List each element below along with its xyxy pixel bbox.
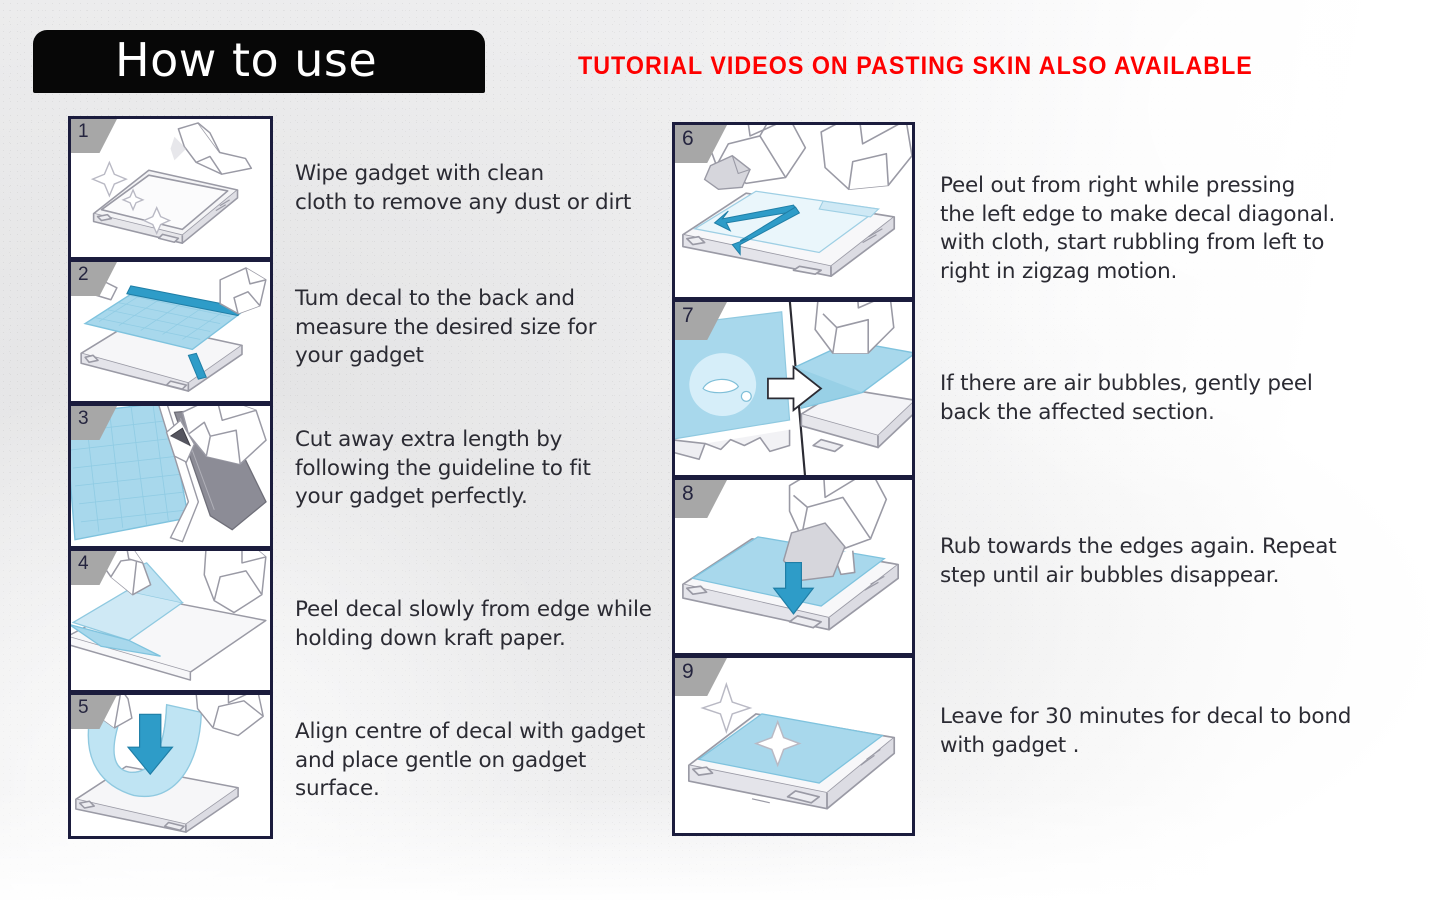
step-panel-2: 2 [68,260,273,404]
steps-column-right: 6 [672,122,915,836]
tutorial-banner: TUTORIAL VIDEOS ON PASTING SKIN ALSO AVA… [578,52,1333,81]
step-number-3: 3 [78,408,89,430]
step-panel-6: 6 [672,122,915,300]
step-number-9: 9 [682,660,694,684]
step-panel-7: 7 [672,300,915,478]
step-number-1: 1 [78,121,89,143]
steps-column-left: 1 [68,116,273,839]
step-panel-4: 4 [68,549,273,693]
step-text-6: Peel out from right while pressing the l… [940,172,1360,286]
step-number-7: 7 [682,304,694,328]
step-text-7: If there are air bubbles, gently peel ba… [940,370,1360,427]
step-text-4: Peel decal slowly from edge while holdin… [295,596,655,653]
step-panel-8: 8 [672,478,915,656]
step-number-8: 8 [682,482,694,506]
step-number-6: 6 [682,127,694,151]
step-panel-5: 5 [68,693,273,839]
step-text-1: Wipe gadget with clean cloth to remove a… [295,160,655,217]
step-text-2: Tum decal to the back and measure the de… [295,285,655,371]
step-number-2: 2 [78,264,89,286]
step-text-3: Cut away extra length by following the g… [295,426,655,512]
step-text-8: Rub towards the edges again. Repeat step… [940,533,1360,590]
step-panel-3: 3 [68,404,273,549]
step-panel-9: 9 [672,656,915,836]
step-panel-1: 1 [68,116,273,260]
step-text-9: Leave for 30 minutes for decal to bond w… [940,703,1360,760]
step-number-4: 4 [78,553,89,575]
step-text-5: Align centre of decal with gadget and pl… [295,718,655,804]
page-title: How to use [33,37,377,83]
page-title-bar: How to use [33,30,485,93]
step-number-5: 5 [78,697,89,719]
